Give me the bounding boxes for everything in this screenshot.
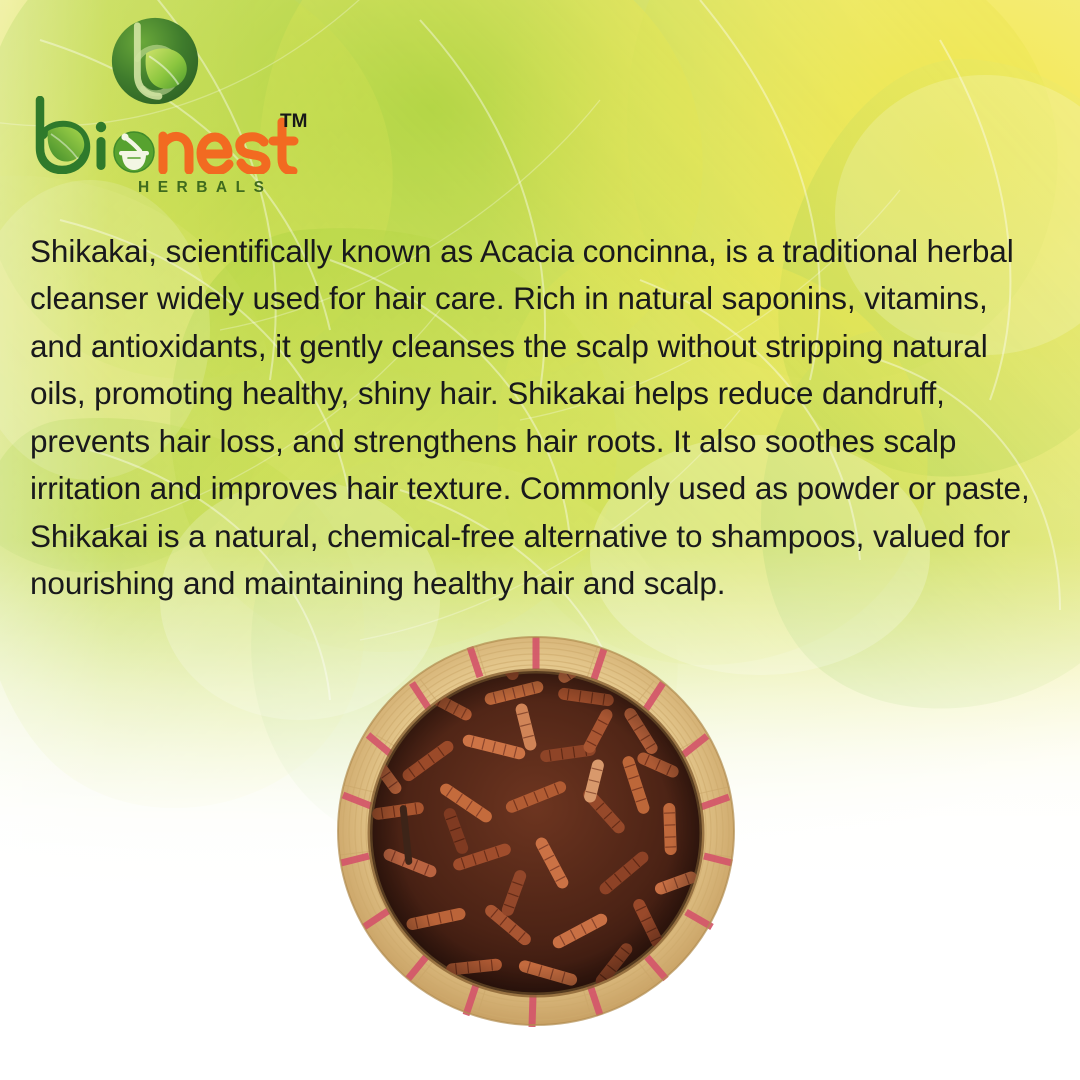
brand-wordmark [26, 96, 326, 174]
wordmark-nest [163, 122, 294, 171]
product-image-shikakai-basket [336, 635, 736, 1027]
wordmark-letter-b [40, 100, 86, 170]
basket-illustration [336, 635, 736, 1027]
brand-logo: TM HERBALS [26, 14, 326, 194]
body-paragraph: Shikakai, scientifically known as Acacia… [30, 228, 1048, 608]
brand-tagline: HERBALS [138, 180, 272, 196]
trademark-symbol: TM [280, 112, 307, 131]
poster-canvas: TM HERBALS Shikakai, scientifically know… [0, 0, 1080, 1080]
mortar-pestle-icon [114, 132, 154, 172]
wordmark-letter-i [96, 122, 106, 170]
